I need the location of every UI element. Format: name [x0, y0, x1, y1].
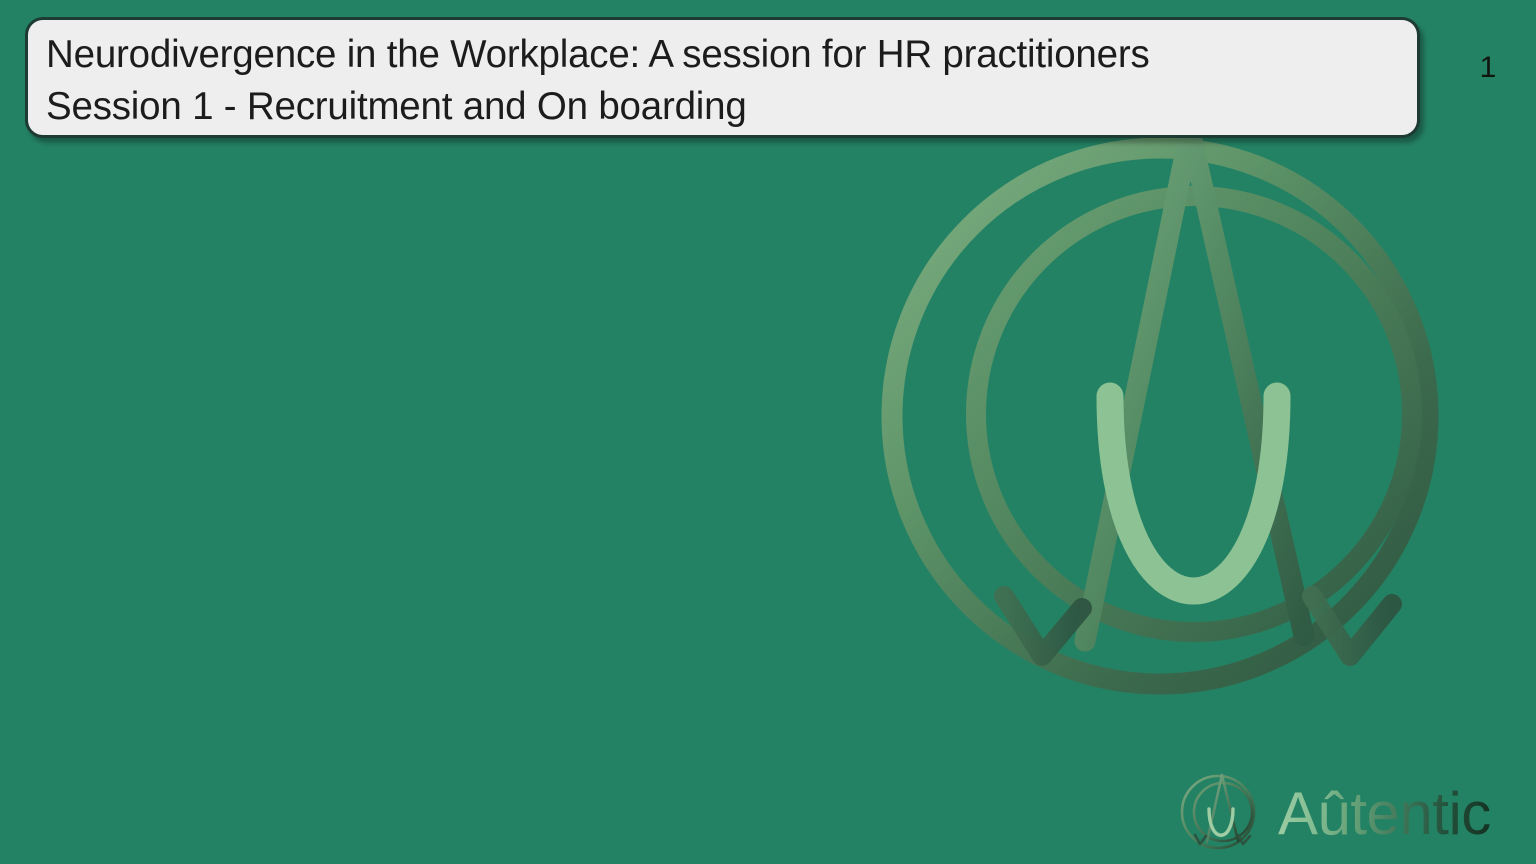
watermark-outer-circle: [892, 148, 1428, 684]
watermark-inner-circle: [976, 196, 1412, 632]
watermark-chevron-notches: [1004, 596, 1392, 656]
brand-mark-icon: [1176, 768, 1268, 860]
brand-logo: Aûtentic: [1176, 766, 1526, 862]
title-line-1: Neurodivergence in the Workplace: A sess…: [46, 29, 1403, 81]
slide-canvas: Neurodivergence in the Workplace: A sess…: [0, 0, 1536, 864]
watermark-a-chevron: [1085, 131, 1304, 641]
watermark-logo: [872, 96, 1492, 756]
slide-number: 1: [1466, 48, 1510, 88]
brand-wordmark: Aûtentic: [1278, 779, 1491, 849]
title-box: Neurodivergence in the Workplace: A sess…: [25, 17, 1420, 138]
watermark-u-curve: [1110, 396, 1277, 591]
title-line-2: Session 1 - Recruitment and On boarding: [46, 81, 1403, 133]
